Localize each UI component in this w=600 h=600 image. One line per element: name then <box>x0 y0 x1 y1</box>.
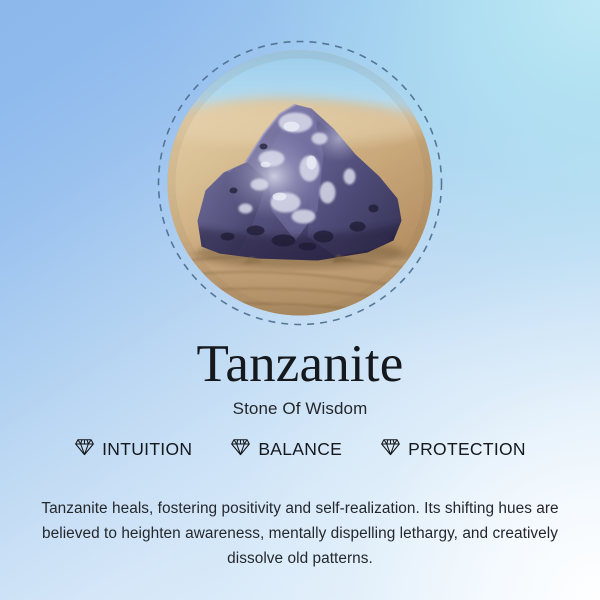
attribute-balance: BALANCE <box>230 437 342 461</box>
gem-image-container <box>157 40 443 326</box>
gem-icon <box>230 437 251 461</box>
attribute-label: PROTECTION <box>408 439 526 459</box>
attribute-label: INTUITION <box>102 439 192 459</box>
gem-icon <box>380 437 401 461</box>
gemstone-info-card: Tanzanite Stone Of Wisdom <box>0 0 600 600</box>
page-subtitle: Stone Of Wisdom <box>0 398 600 420</box>
attribute-protection: PROTECTION <box>380 437 526 461</box>
tanzanite-photo <box>168 51 433 316</box>
attribute-intuition: INTUITION <box>74 437 192 461</box>
attribute-label: BALANCE <box>258 439 342 459</box>
attributes-row: INTUITION BALANCE <box>0 437 600 461</box>
gem-icon <box>74 437 95 461</box>
page-title: Tanzanite <box>0 336 600 392</box>
description-text: Tanzanite heals, fostering positivity an… <box>36 496 564 571</box>
